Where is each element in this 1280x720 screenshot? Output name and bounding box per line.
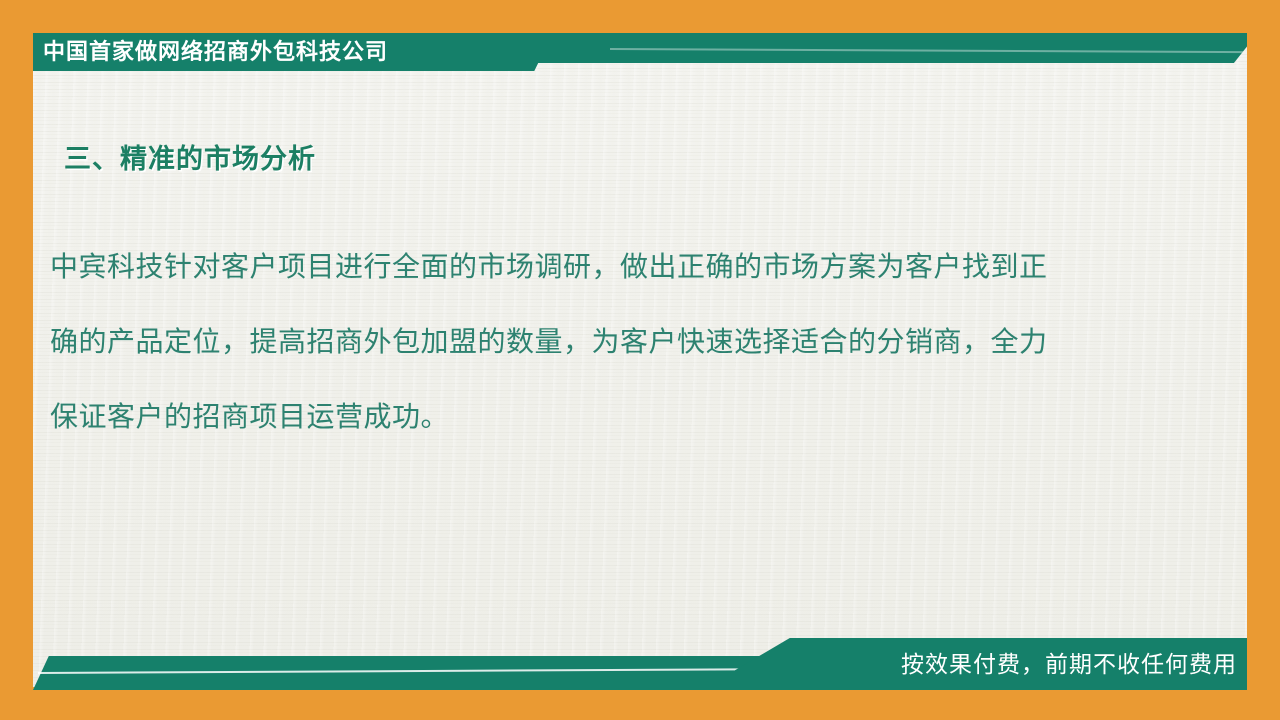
header-title-text: 中国首家做网络招商外包科技公司 <box>43 34 388 70</box>
paragraph-line: 确的产品定位，提高招商外包加盟的数量，为客户快速选择适合的分销商，全力 <box>50 305 1190 380</box>
footer-slogan-text: 按效果付费，前期不收任何费用 <box>901 647 1237 681</box>
slide-header: 中国首家做网络招商外包科技公司 <box>0 26 1280 78</box>
slide-footer: 按效果付费，前期不收任何费用 <box>0 638 1280 692</box>
header-accent-bar-hairline <box>610 48 1280 55</box>
paragraph-line: 保证客户的招商项目运营成功。 <box>50 380 1190 455</box>
slide-canvas: 中国首家做网络招商外包科技公司 三、精准的市场分析 中宾科技针对客户项目进行全面… <box>0 0 1280 720</box>
body-paragraph: 中宾科技针对客户项目进行全面的市场调研，做出正确的市场方案为客户找到正 确的产品… <box>50 230 1190 455</box>
paragraph-line: 中宾科技针对客户项目进行全面的市场调研，做出正确的市场方案为客户找到正 <box>50 230 1190 305</box>
section-heading: 三、精准的市场分析 <box>64 137 316 176</box>
header-accent-bar <box>430 33 1247 63</box>
